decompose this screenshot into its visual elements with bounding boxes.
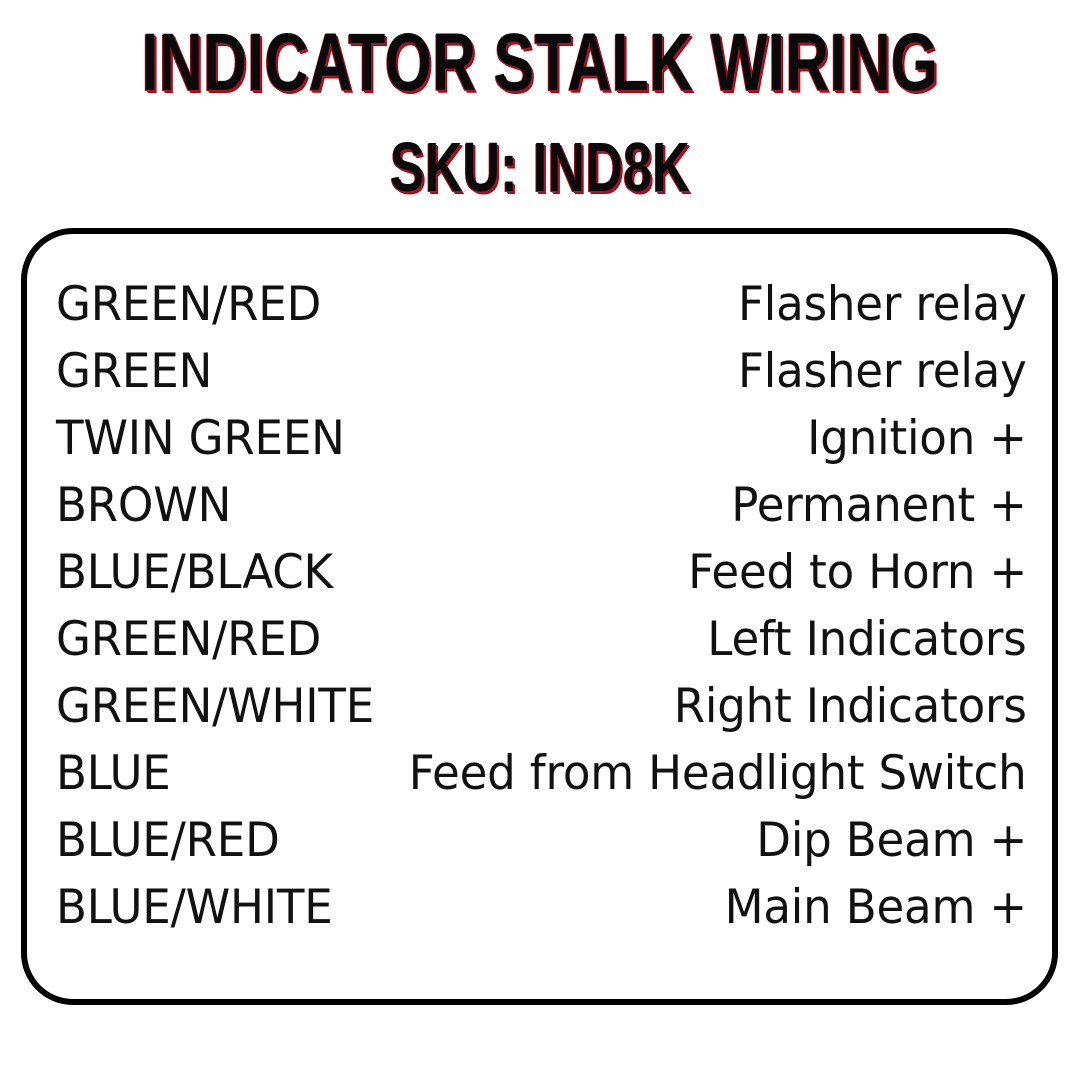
card-heading: INDICATOR STALK WIRING SKU: IND8K: [0, 22, 1080, 202]
table-row: GREENFlasher relay: [56, 338, 1027, 405]
table-row: BLUEFeed from Headlight Switch: [56, 740, 1027, 807]
function-cell: Ignition +: [807, 405, 1027, 472]
table-row: GREEN/REDLeft Indicators: [56, 606, 1027, 673]
function-cell: Feed to Horn +: [688, 539, 1027, 606]
table-row: BLUE/WHITEMain Beam +: [56, 874, 1027, 941]
wire-colour-cell: GREEN: [56, 338, 212, 405]
wire-colour-cell: BLUE/BLACK: [56, 539, 333, 606]
function-cell: Permanent +: [732, 472, 1027, 539]
page-title: INDICATOR STALK WIRING: [140, 22, 939, 104]
table-row: GREEN/WHITERight Indicators: [56, 673, 1027, 740]
table-row: BLUE/REDDip Beam +: [56, 807, 1027, 874]
function-cell: Dip Beam +: [756, 807, 1027, 874]
function-cell: Feed from Headlight Switch: [409, 740, 1027, 807]
table-row: GREEN/REDFlasher relay: [56, 271, 1027, 338]
table-row: TWIN GREENIgnition +: [56, 405, 1027, 472]
function-cell: Flasher relay: [738, 338, 1027, 405]
wire-colour-cell: GREEN/RED: [56, 271, 321, 338]
wiring-table: GREEN/REDFlasher relayGREENFlasher relay…: [56, 271, 1027, 941]
function-cell: Flasher relay: [738, 271, 1027, 338]
wire-colour-cell: BROWN: [56, 472, 231, 539]
function-cell: Main Beam +: [725, 874, 1027, 941]
function-cell: Right Indicators: [674, 673, 1027, 740]
wire-colour-cell: BLUE/RED: [56, 807, 280, 874]
wire-colour-cell: GREEN/RED: [56, 606, 321, 673]
table-row: BLUE/BLACKFeed to Horn +: [56, 539, 1027, 606]
wiring-reference-card: INDICATOR STALK WIRING SKU: IND8K GREEN/…: [0, 0, 1080, 1080]
function-cell: Left Indicators: [708, 606, 1027, 673]
sku-subtitle: SKU: IND8K: [140, 132, 939, 202]
table-row: BROWNPermanent +: [56, 472, 1027, 539]
wire-colour-cell: TWIN GREEN: [56, 405, 345, 472]
wire-colour-cell: BLUE: [56, 740, 171, 807]
wiring-table-panel: GREEN/REDFlasher relayGREENFlasher relay…: [21, 228, 1058, 1005]
wire-colour-cell: GREEN/WHITE: [56, 673, 374, 740]
wire-colour-cell: BLUE/WHITE: [56, 874, 333, 941]
